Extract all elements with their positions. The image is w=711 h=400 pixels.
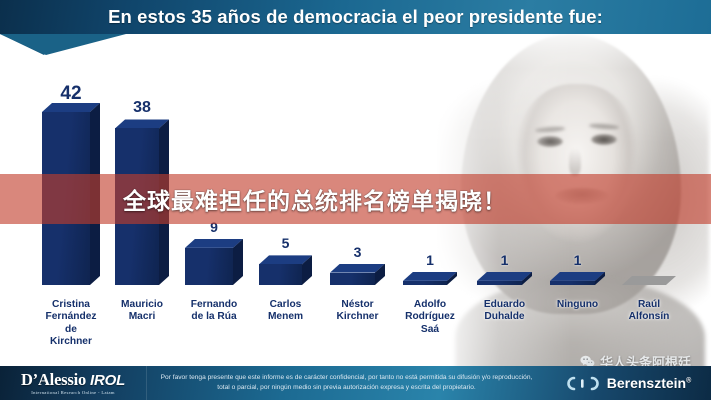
category-label-line: de la Rúa	[173, 311, 255, 323]
berensztein-logo: Berensztein®	[546, 375, 711, 391]
berensztein-name: Berensztein®	[607, 375, 692, 391]
bar-front-face	[403, 281, 447, 285]
header-chevron-notch	[0, 34, 132, 56]
bar-front-face	[477, 281, 522, 285]
category-label-line: Adolfo	[391, 299, 469, 311]
category-label: RaúlAlfonsín	[610, 299, 688, 324]
category-label-line: Fernando	[173, 299, 255, 311]
footer-bar: D’Alessio IROL International Research On…	[0, 366, 711, 400]
bar-front-face	[185, 248, 233, 285]
category-label-line: Eduardo	[465, 299, 544, 311]
category-label-line: Alfonsín	[610, 311, 688, 323]
category-label-line: Carlos	[247, 299, 324, 311]
category-label-line: Fernández	[30, 311, 112, 323]
category-label-line: Duhalde	[465, 311, 544, 323]
category-label-line: Ninguno	[538, 299, 617, 311]
category-label-line: Raúl	[610, 299, 688, 311]
dalessio-irol-logo: D’Alessio IROL International Research On…	[0, 366, 147, 400]
bar-value-label: 1	[477, 252, 532, 268]
category-label-line: Néstor	[318, 299, 397, 311]
category-label: EduardoDuhalde	[465, 299, 544, 324]
bar-value-label: 5	[259, 235, 312, 251]
footer-logo-subtitle: International Research Online - Latam	[31, 390, 115, 395]
bar-value-label: 3	[330, 244, 385, 260]
category-label-line: Kirchner	[30, 336, 112, 348]
bar-front-face	[259, 264, 302, 285]
category-label-line: de	[30, 324, 112, 336]
infographic-poster: En estos 35 años de democracia el peor p…	[0, 0, 711, 400]
category-label-line: Menem	[247, 311, 324, 323]
category-label-line: Mauricio	[103, 299, 181, 311]
category-label: AdolfoRodríguezSaá	[391, 299, 469, 336]
bar-top-face	[185, 239, 243, 248]
category-label-line: Rodríguez	[391, 311, 469, 323]
overlay-banner: 全球最难担任的总统排名榜单揭晓！	[0, 174, 711, 224]
category-label-line: Kirchner	[318, 311, 397, 323]
category-label: Ninguno	[538, 299, 617, 311]
bar-top-face	[622, 276, 676, 285]
footer-disclaimer: Por favor tenga presente que este inform…	[147, 373, 546, 392]
category-label-line: Saá	[391, 324, 469, 336]
footer-logo-name: D’Alessio	[21, 370, 86, 389]
category-label: CarlosMenem	[247, 299, 324, 324]
category-label-line: Macri	[103, 311, 181, 323]
overlay-banner-text: 全球最难担任的总统排名榜单揭晓！	[123, 182, 507, 216]
bar-value-label: 42	[42, 83, 100, 105]
berensztein-logo-icon	[566, 376, 602, 391]
bar-front-face	[550, 281, 595, 285]
footer-logo-irol: IROL	[90, 372, 125, 389]
category-label: CristinaFernándezdeKirchner	[30, 299, 112, 349]
bar-value-label: 1	[403, 252, 457, 268]
bar-front-face	[330, 273, 375, 285]
category-label-line: Cristina	[30, 299, 112, 311]
page-title: En estos 35 años de democracia el peor p…	[0, 0, 711, 34]
category-label: Fernandode la Rúa	[173, 299, 255, 324]
category-label: MauricioMacri	[103, 299, 181, 324]
category-label: NéstorKirchner	[318, 299, 397, 324]
bar-value-label: 1	[550, 252, 605, 268]
bar-value-label: 38	[115, 99, 169, 117]
